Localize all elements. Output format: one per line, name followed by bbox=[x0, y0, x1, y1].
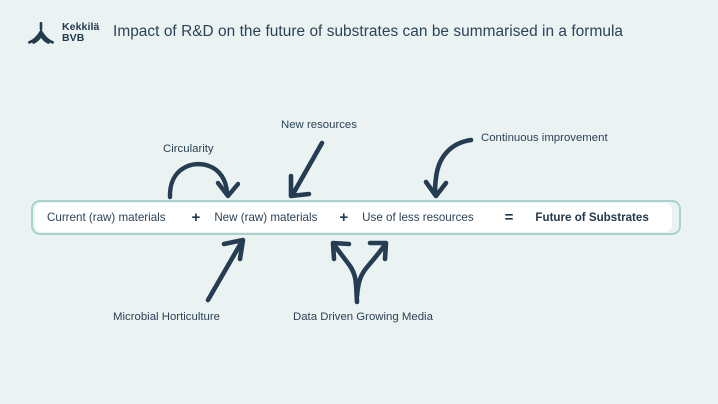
formula-term-future-of-substrates: Future of Substrates bbox=[535, 211, 648, 224]
annotation-label-data-driven-growing-media: Data Driven Growing Media bbox=[293, 311, 433, 323]
curved-arrow-down-left-icon bbox=[426, 140, 471, 196]
formula-band: Current (raw) materials + New (raw) mate… bbox=[35, 203, 672, 232]
slide-canvas: Kekkilä BVB Impact of R&D on the future … bbox=[0, 0, 718, 404]
curved-semicircle-arrow-down-right-icon bbox=[170, 164, 238, 197]
straight-arrow-up-right-icon bbox=[208, 240, 243, 300]
annotation-label-microbial-horticulture: Microbial Horticulture bbox=[113, 311, 220, 323]
logo-wordmark: Kekkilä BVB bbox=[62, 22, 99, 43]
kekkila-tree-mark-icon bbox=[26, 20, 56, 46]
forked-arrow-up-icon bbox=[333, 243, 386, 302]
formula-term-current-raw-materials: Current (raw) materials bbox=[47, 211, 166, 224]
formula-term-use-of-less-resources: Use of less resources bbox=[362, 211, 473, 224]
formula-operator-equals: = bbox=[505, 210, 514, 225]
straight-arrow-down-left-icon bbox=[291, 143, 322, 196]
page-title: Impact of R&D on the future of substrate… bbox=[113, 23, 623, 41]
annotation-label-continuous-improvement: Continuous improvement bbox=[481, 132, 608, 144]
formula-operator-plus-2: + bbox=[339, 210, 348, 225]
logo-line-2: BVB bbox=[62, 33, 99, 44]
formula-term-new-raw-materials: New (raw) materials bbox=[214, 211, 317, 224]
kekkila-bvb-logo: Kekkilä BVB bbox=[26, 19, 98, 47]
slide-header: Kekkilä BVB Impact of R&D on the future … bbox=[0, 0, 718, 66]
annotation-label-new-resources: New resources bbox=[281, 119, 357, 131]
formula-operator-plus-1: + bbox=[192, 210, 201, 225]
annotation-label-circularity: Circularity bbox=[163, 143, 214, 155]
